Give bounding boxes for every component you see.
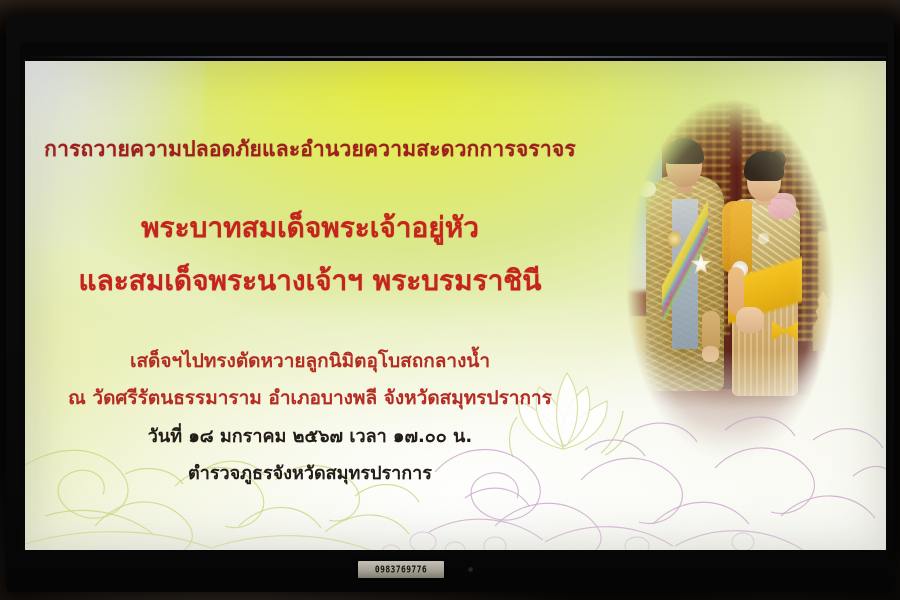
monitor-asset-sticker: 0983769776: [358, 561, 444, 578]
queen-hair-bun: [768, 151, 786, 169]
power-led-indicator: [468, 567, 473, 572]
bezel-top-highlight: [24, 56, 886, 58]
queen-hands: [736, 307, 764, 333]
event-datetime-line: วันที่ ๑๘ มกราคม ๒๕๖๗ เวลา ๑๗.๐๐ น.: [25, 421, 595, 450]
royal-title-queen: และสมเด็จพระนางเจ้าฯ พระบรมราชินี: [25, 259, 595, 303]
portrait-bottom-fade: [610, 351, 850, 481]
king-epaulette: [638, 181, 656, 197]
display-screen: การถวายความปลอดภัยและอำนวยความสะดวกการจร…: [25, 61, 886, 550]
ceiling-lamp: [760, 97, 778, 123]
royal-title-king: พระบาทสมเด็จพระเจ้าอยู่หัว: [25, 206, 595, 250]
event-organizer-line: ตำรวจภูธรจังหวัดสมุทรปราการ: [25, 458, 595, 487]
event-activity-line: เสด็จฯไปทรงตัดหวายลูกนิมิตอุโบสถกลางน้ำ: [25, 346, 595, 376]
slide-text-block: การถวายความปลอดภัยและอำนวยความสะดวกการจร…: [25, 61, 625, 550]
slide-headline: การถวายความปลอดภัยและอำนวยความสะดวกการจร…: [25, 133, 595, 166]
event-location-line: ณ วัดศรีรัตนธรรมาราม อำเภอบางพลี จังหวัด…: [25, 383, 595, 413]
king-medal: [668, 231, 681, 247]
room-background: การถวายความปลอดภัยและอำนวยความสะดวกการจร…: [0, 0, 900, 600]
monitor-sticker-text: 0983769776: [375, 564, 427, 575]
monitor: การถวายความปลอดภัยและอำนวยความสะดวกการจร…: [6, 16, 894, 592]
royal-portrait: [610, 81, 850, 481]
royal-portrait-image: [610, 81, 850, 481]
